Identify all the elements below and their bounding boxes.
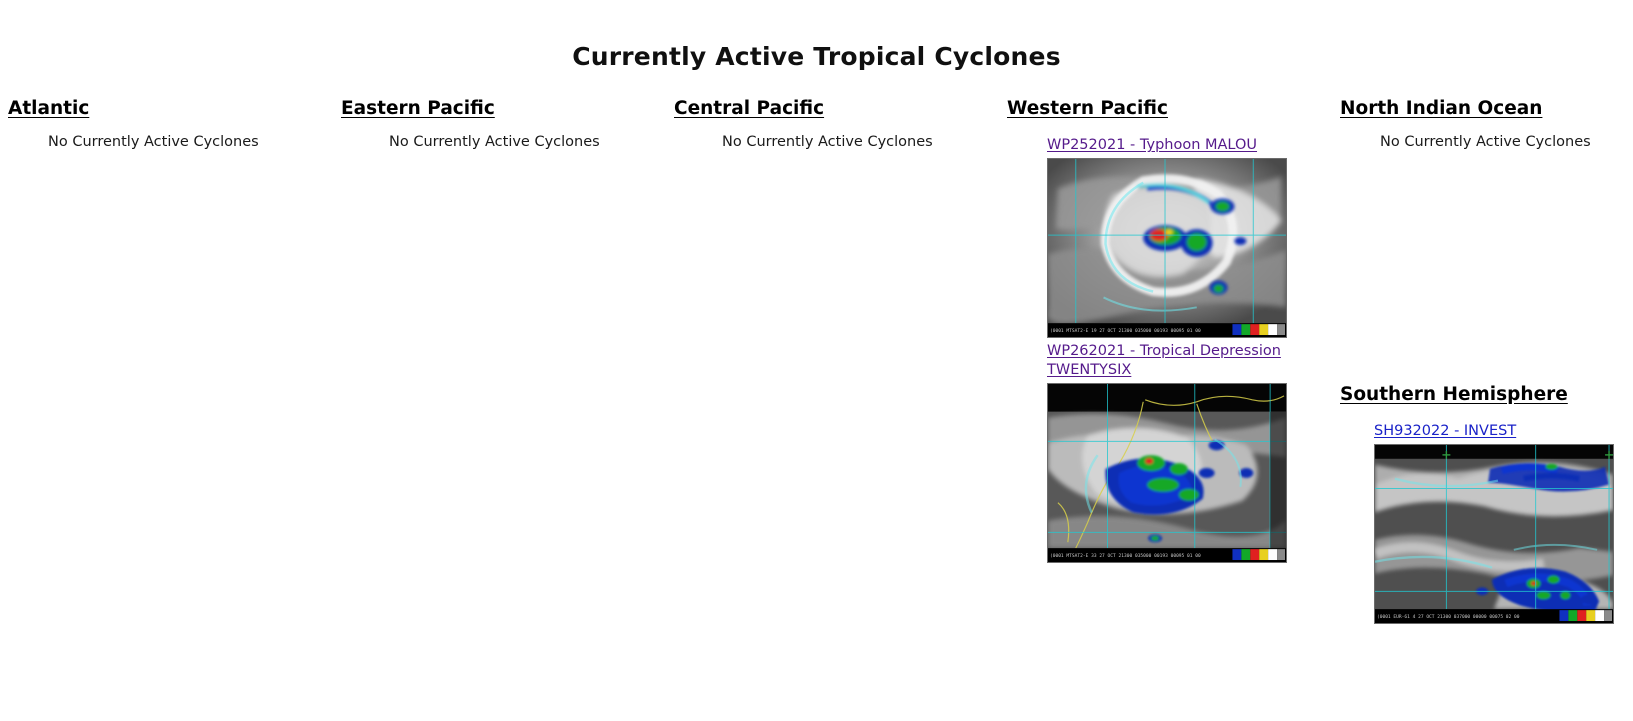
no-active-cyclones-north-indian-ocean: No Currently Active Cyclones <box>1380 134 1633 150</box>
basin-header-southern-hemisphere[interactable]: Southern Hemisphere <box>1340 384 1633 405</box>
basin-header-eastern-pacific[interactable]: Eastern Pacific <box>341 98 674 119</box>
satellite-graphic-wp252021: (0001 MTSAT2-E 19 27 OCT 21300 035000 00… <box>1048 159 1286 337</box>
basin-column-western-pacific: Western Pacific WP252021 - Typhoon MALOU <box>1007 98 1340 628</box>
color-bar <box>1232 325 1285 336</box>
basin-columns: Atlantic No Currently Active Cyclones Ea… <box>0 71 1633 628</box>
basin-body-north-indian-ocean: No Currently Active Cyclones <box>1340 119 1633 150</box>
storm-link-sh932022[interactable]: SH932022 - INVEST <box>1374 422 1516 440</box>
no-active-cyclones-central-pacific: No Currently Active Cyclones <box>722 134 1007 150</box>
svg-text:(0001 MTSAT2-E 19 27 OCT 21300: (0001 MTSAT2-E 19 27 OCT 21300 035000 00… <box>1050 328 1201 334</box>
storm-link-wp262021[interactable]: WP262021 - Tropical Depression TWENTYSIX <box>1047 342 1287 378</box>
no-active-cyclones-eastern-pacific: No Currently Active Cyclones <box>389 134 674 150</box>
basin-body-atlantic: No Currently Active Cyclones <box>8 119 341 150</box>
basin-header-central-pacific[interactable]: Central Pacific <box>674 98 1007 119</box>
basin-column-central-pacific: Central Pacific No Currently Active Cycl… <box>674 98 1007 628</box>
svg-text:(0001 MTSAT2-E 33 27 OCT 21300: (0001 MTSAT2-E 33 27 OCT 21300 035000 00… <box>1050 553 1201 559</box>
satellite-graphic-wp262021: (0001 MTSAT2-E 33 27 OCT 21300 035000 00… <box>1048 384 1286 562</box>
basin-body-western-pacific: WP252021 - Typhoon MALOU <box>1007 119 1340 562</box>
color-bar <box>1559 610 1612 621</box>
satellite-graphic-sh932022: (0001 EUR-61 4 27 OCT 21300 037000 00000… <box>1375 445 1613 623</box>
satellite-image-wp252021[interactable]: (0001 MTSAT2-E 19 27 OCT 21300 035000 00… <box>1047 158 1287 338</box>
basin-column-north-indian-ocean: North Indian Ocean No Currently Active C… <box>1340 98 1633 628</box>
storm-link-wp252021[interactable]: WP252021 - Typhoon MALOU <box>1047 136 1257 154</box>
basin-body-central-pacific: No Currently Active Cyclones <box>674 119 1007 150</box>
basin-header-atlantic[interactable]: Atlantic <box>8 98 341 119</box>
basin-header-north-indian-ocean[interactable]: North Indian Ocean <box>1340 98 1633 119</box>
basin-header-western-pacific[interactable]: Western Pacific <box>1007 98 1340 119</box>
basin-body-southern-hemisphere: SH932022 - INVEST <box>1340 406 1633 624</box>
basin-section-southern-hemisphere: Southern Hemisphere SH932022 - INVEST <box>1340 384 1633 623</box>
no-active-cyclones-atlantic: No Currently Active Cyclones <box>48 134 341 150</box>
storm-entry-wp252021: WP252021 - Typhoon MALOU <box>1047 134 1340 338</box>
satellite-image-sh932022[interactable]: (0001 EUR-61 4 27 OCT 21300 037000 00000… <box>1374 444 1614 624</box>
basin-body-eastern-pacific: No Currently Active Cyclones <box>341 119 674 150</box>
satellite-image-wp262021[interactable]: (0001 MTSAT2-E 33 27 OCT 21300 035000 00… <box>1047 383 1287 563</box>
storm-entry-wp262021: WP262021 - Tropical Depression TWENTYSIX <box>1047 342 1340 562</box>
color-bar <box>1232 549 1285 560</box>
storm-entry-sh932022: SH932022 - INVEST <box>1374 420 1633 624</box>
basin-column-atlantic: Atlantic No Currently Active Cyclones <box>8 98 341 628</box>
page-title: Currently Active Tropical Cyclones <box>0 0 1633 71</box>
basin-column-eastern-pacific: Eastern Pacific No Currently Active Cycl… <box>341 98 674 628</box>
svg-text:(0001 EUR-61 4 27 OCT 213: (0001 EUR-61 4 27 OCT 21300 037000 00000… <box>1377 614 1520 620</box>
